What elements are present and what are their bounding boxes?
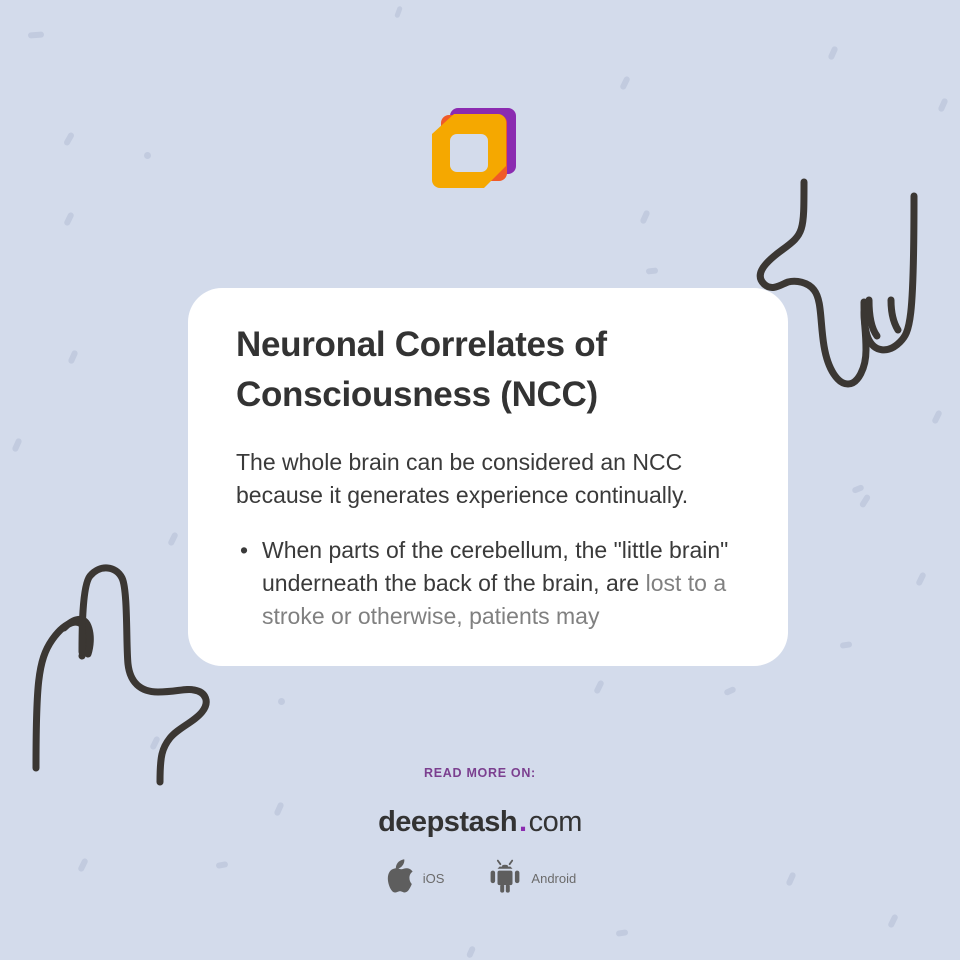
confetti-speck [639, 209, 650, 224]
store-badge-android[interactable]: Android [488, 859, 576, 898]
confetti-speck [28, 31, 44, 38]
confetti-speck [851, 484, 864, 494]
confetti-speck [827, 45, 838, 60]
confetti-speck [394, 6, 403, 19]
confetti-speck [646, 267, 659, 274]
confetti-speck [723, 686, 736, 696]
confetti-speck [63, 131, 75, 146]
confetti-speck [915, 571, 927, 586]
store-badges: iOS And [0, 859, 960, 898]
list-item: When parts of the cerebellum, the "littl… [262, 534, 740, 633]
confetti-speck [619, 75, 631, 90]
confetti-speck [616, 929, 629, 937]
confetti-speck [840, 641, 853, 649]
confetti-speck [887, 913, 899, 928]
deepstash-logo [428, 104, 520, 196]
confetti-speck [937, 97, 948, 112]
page-title: Neuronal Correlates of Consciousness (NC… [236, 320, 740, 420]
confetti-speck [149, 735, 161, 750]
confetti-speck [859, 493, 872, 508]
wordmark-dot: . [517, 806, 529, 838]
android-icon [488, 859, 522, 898]
apple-icon [384, 859, 414, 898]
confetti-speck [67, 349, 78, 364]
deepstash-wordmark[interactable]: deepstash.com [0, 806, 960, 839]
logo-front-square-cutout [450, 134, 488, 172]
store-badge-ios-label: iOS [423, 871, 445, 886]
footer: READ MORE ON: deepstash.com iOS [0, 766, 960, 898]
read-more-label: READ MORE ON: [0, 766, 960, 780]
idea-card[interactable]: Neuronal Correlates of Consciousness (NC… [188, 288, 788, 666]
wordmark-tld: com [529, 806, 582, 838]
confetti-speck [593, 679, 605, 694]
card-bullet-list: When parts of the cerebellum, the "littl… [236, 534, 740, 633]
confetti-speck [144, 152, 151, 159]
store-badge-android-label: Android [531, 871, 576, 886]
confetti-speck [278, 698, 285, 705]
store-badge-ios[interactable]: iOS [384, 859, 445, 898]
deepstash-share-card: Neuronal Correlates of Consciousness (NC… [0, 0, 960, 960]
card-summary: The whole brain can be considered an NCC… [236, 446, 740, 512]
confetti-speck [11, 437, 22, 452]
wordmark-name: deepstash [378, 806, 517, 838]
confetti-speck [167, 531, 179, 546]
confetti-speck [63, 211, 75, 226]
confetti-speck [931, 409, 943, 424]
confetti-speck [466, 945, 476, 958]
